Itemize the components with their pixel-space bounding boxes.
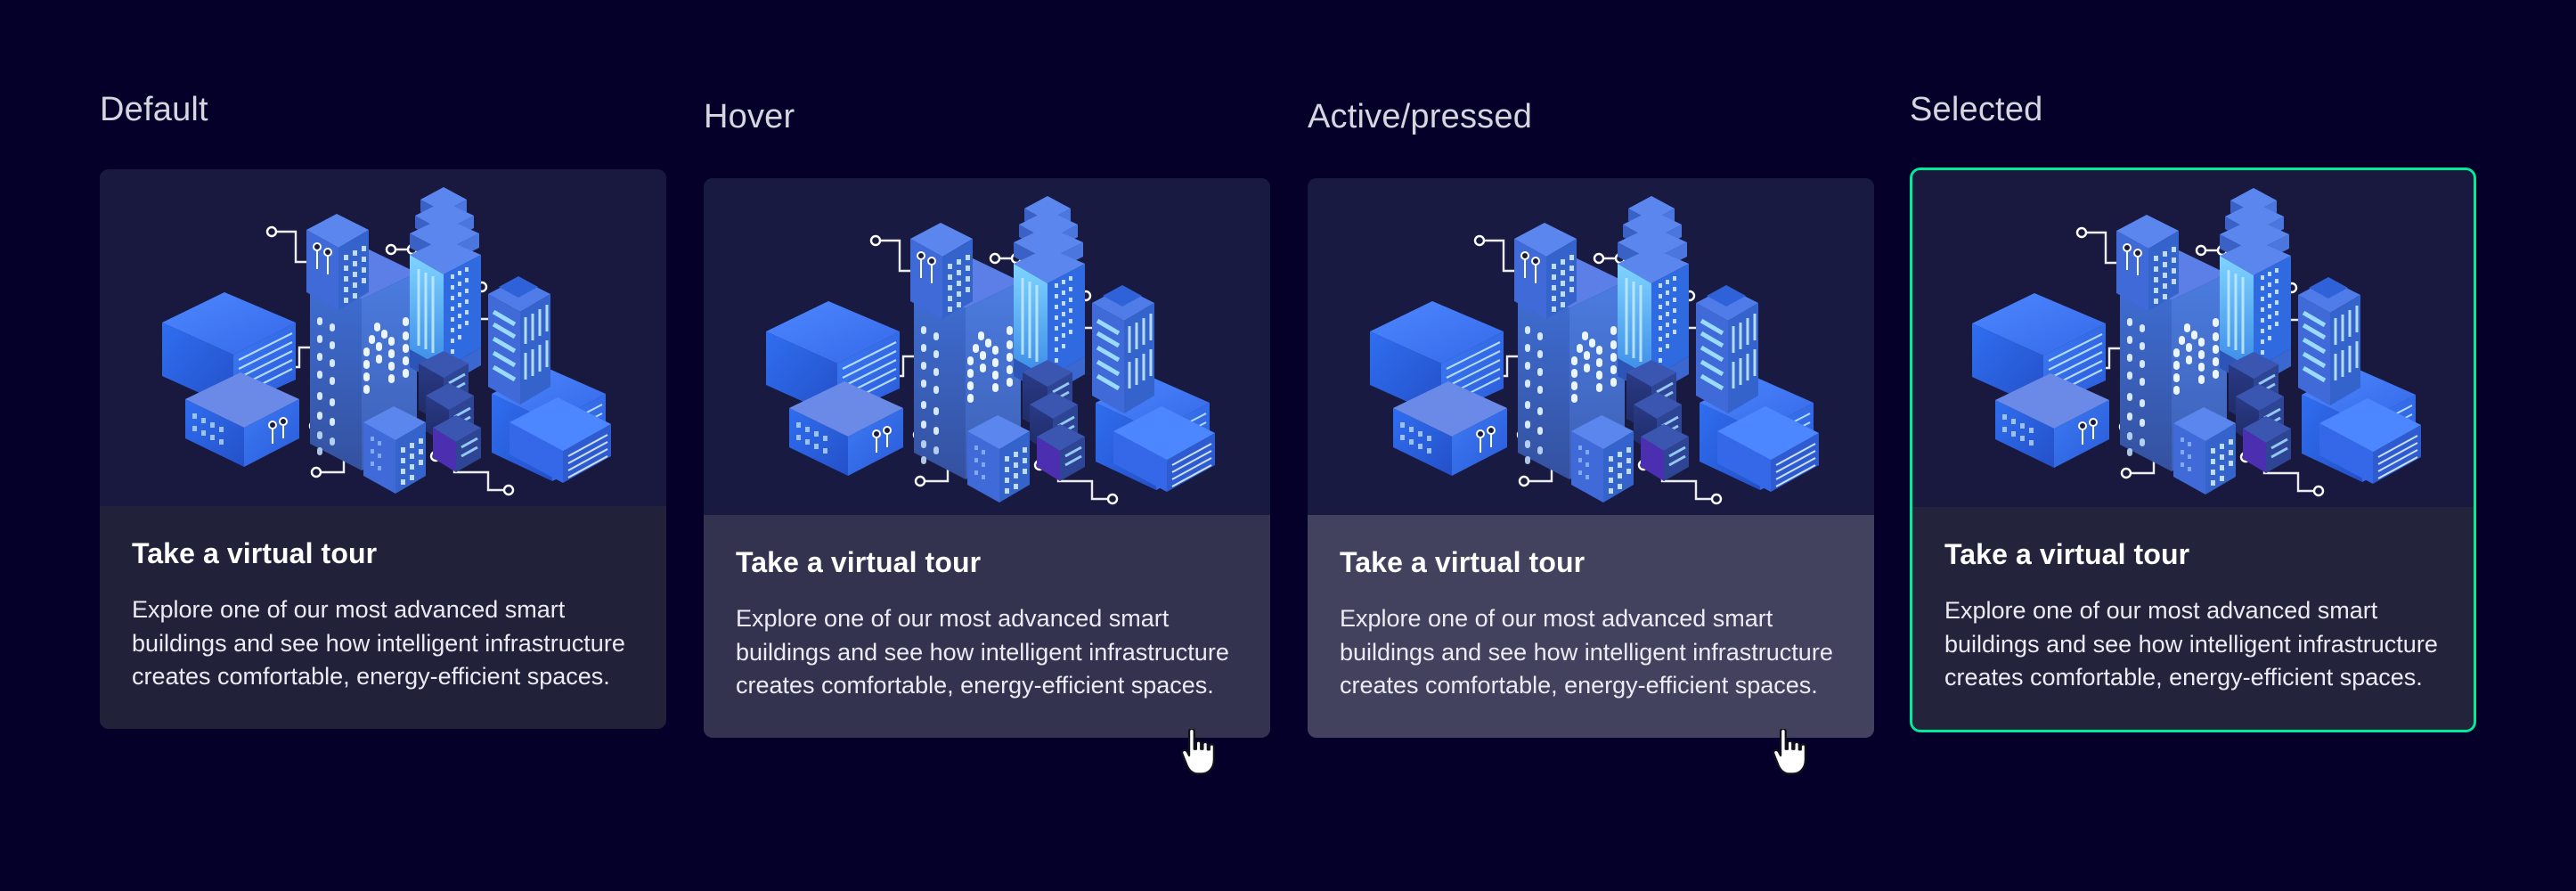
card-body-selected: Take a virtual tour Explore one of our m… [1912,507,2474,730]
building-bottom-small [1571,415,1634,503]
card-default[interactable]: Take a virtual tour Explore one of our m… [100,169,666,729]
card-active[interactable]: Take a virtual tour Explore one of our m… [1308,178,1874,738]
state-label-selected: Selected [1910,91,2042,129]
card-title: Take a virtual tour [132,536,634,570]
building-bottom-small [967,415,1030,503]
card-hover[interactable]: Take a virtual tour Explore one of our m… [704,178,1270,738]
card-states-showcase: Default [0,0,2576,891]
card-media-active [1308,178,1874,515]
building-top-small [1514,223,1577,319]
isometric-smart-city-ai-illustration [1917,170,2469,507]
building-right-striped-tower [1696,285,1758,413]
card-description: Explore one of our most advanced smart b… [1944,594,2441,694]
building-top-small [910,223,973,319]
building-right-striped-tower [2298,277,2360,405]
card-body-default: Take a virtual tour Explore one of our m… [100,506,666,729]
building-top-small [306,214,369,310]
card-title: Take a virtual tour [736,545,1238,579]
building-bottom-small [2173,407,2236,495]
card-body-active: Take a virtual tour Explore one of our m… [1308,515,1874,738]
card-body-hover: Take a virtual tour Explore one of our m… [704,515,1270,738]
card-title: Take a virtual tour [1944,537,2441,571]
building-right-striped-tower [488,276,550,405]
card-description: Explore one of our most advanced smart b… [1340,602,1842,702]
isometric-smart-city-ai-illustration [1315,178,1867,515]
card-media-default [100,169,666,506]
building-top-small [2116,215,2179,311]
state-label-active: Active/pressed [1308,98,1532,136]
building-right-striped-tower [1092,285,1154,413]
card-description: Explore one of our most advanced smart b… [132,593,634,693]
isometric-smart-city-ai-illustration [107,169,659,506]
building-bottom-small [363,406,426,494]
state-label-default: Default [100,91,208,129]
card-media-hover [704,178,1270,515]
card-description: Explore one of our most advanced smart b… [736,602,1238,702]
state-label-hover: Hover [704,98,795,136]
card-selected[interactable]: Take a virtual tour Explore one of our m… [1910,168,2476,732]
card-title: Take a virtual tour [1340,545,1842,579]
isometric-smart-city-ai-illustration [711,178,1263,515]
card-media-selected [1912,170,2474,507]
